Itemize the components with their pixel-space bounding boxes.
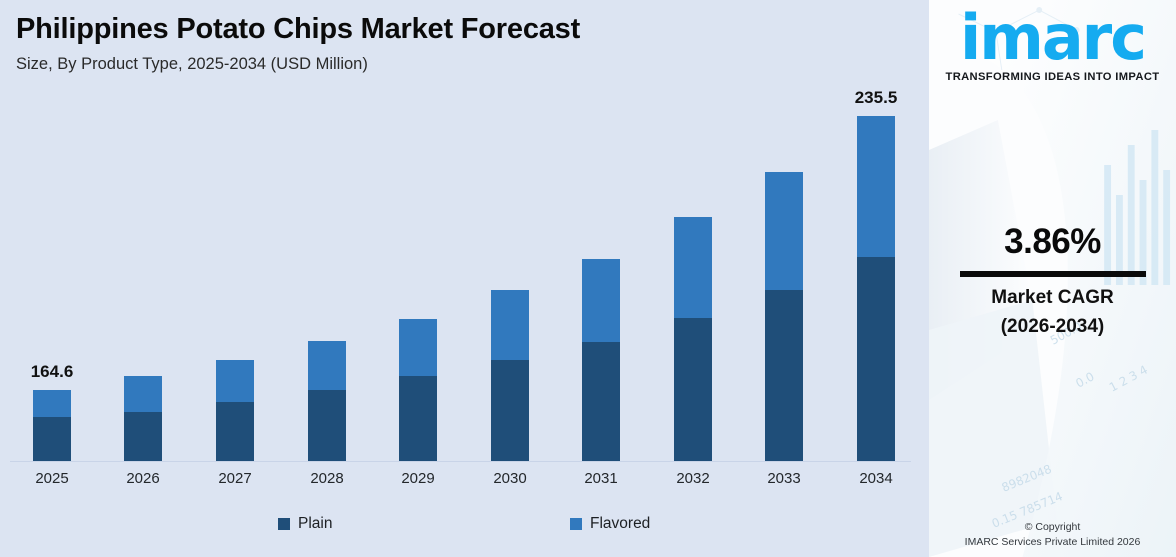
chart-header: Philippines Potato Chips Market Forecast…	[16, 14, 580, 74]
bar-value-label-2034: 235.5	[855, 88, 898, 108]
bar-2025[interactable]: 164.6	[33, 390, 71, 461]
page-title: Philippines Potato Chips Market Forecast	[16, 14, 580, 46]
bar-segment-flavored-2025[interactable]	[33, 390, 71, 417]
bar-segment-flavored-2034[interactable]	[857, 116, 895, 257]
cagr-divider	[960, 271, 1146, 277]
bar-segment-plain-2030[interactable]	[491, 360, 529, 461]
legend-label-flavored: Flavored	[590, 515, 650, 533]
legend-label-plain: Plain	[298, 515, 332, 533]
bar-segment-plain-2029[interactable]	[399, 376, 437, 461]
bar-2033[interactable]	[765, 172, 803, 461]
x-tick-2033: 2033	[765, 470, 803, 487]
bar-segment-flavored-2026[interactable]	[124, 376, 162, 412]
bar-segment-flavored-2031[interactable]	[582, 259, 620, 342]
bar-2028[interactable]	[308, 341, 346, 461]
bar-2027[interactable]	[216, 360, 254, 461]
x-axis-tick-labels: 2025202620272028202920302031203220332034	[0, 462, 925, 498]
bar-2034[interactable]: 235.5	[857, 116, 895, 461]
bar-segment-flavored-2029[interactable]	[399, 319, 437, 376]
bar-segment-plain-2027[interactable]	[216, 402, 254, 461]
legend-item-plain[interactable]: Plain	[278, 515, 332, 533]
copyright-notice: © Copyright IMARC Services Private Limit…	[929, 520, 1176, 550]
bar-segment-plain-2034[interactable]	[857, 257, 895, 461]
bar-segment-flavored-2027[interactable]	[216, 360, 254, 402]
chart-panel: Philippines Potato Chips Market Forecast…	[0, 0, 925, 557]
legend-swatch-plain	[278, 518, 290, 530]
imarc-wordmark: imarc	[960, 8, 1145, 69]
cagr-label: Market CAGR	[929, 287, 1176, 309]
chart-infographic: Philippines Potato Chips Market Forecast…	[0, 0, 1176, 557]
plot-area: 164.6235.5	[0, 110, 925, 462]
copyright-line-2: IMARC Services Private Limited 2026	[929, 535, 1176, 550]
x-tick-2030: 2030	[491, 470, 529, 487]
imarc-logo: imarc TRANSFORMING IDEAS INTO IMPACT	[929, 8, 1176, 83]
bar-segment-plain-2026[interactable]	[124, 412, 162, 461]
legend-item-flavored[interactable]: Flavored	[570, 515, 650, 533]
x-tick-2027: 2027	[216, 470, 254, 487]
bar-2030[interactable]	[491, 290, 529, 461]
bar-segment-plain-2028[interactable]	[308, 390, 346, 461]
bar-segment-flavored-2032[interactable]	[674, 217, 712, 318]
bar-segment-flavored-2033[interactable]	[765, 172, 803, 290]
bar-2026[interactable]	[124, 376, 162, 461]
x-tick-2034: 2034	[857, 470, 895, 487]
bar-2031[interactable]	[582, 259, 620, 461]
x-tick-2029: 2029	[399, 470, 437, 487]
cagr-period: (2026-2034)	[929, 316, 1176, 338]
bar-segment-plain-2031[interactable]	[582, 342, 620, 461]
x-tick-2025: 2025	[33, 470, 71, 487]
bar-2029[interactable]	[399, 319, 437, 461]
copyright-line-1: © Copyright	[929, 520, 1176, 535]
bar-segment-flavored-2030[interactable]	[491, 290, 529, 360]
bar-2032[interactable]	[674, 217, 712, 461]
bar-segment-flavored-2028[interactable]	[308, 341, 346, 390]
cagr-value: 3.86%	[929, 222, 1176, 262]
brand-panel: 500.0 0.0 1 2 3 4 8982048 0.15 785714 im…	[925, 0, 1176, 557]
bar-segment-plain-2032[interactable]	[674, 318, 712, 461]
bar-value-label-2025: 164.6	[31, 362, 74, 382]
x-tick-2028: 2028	[308, 470, 346, 487]
bar-series-container: 164.6235.5	[0, 110, 925, 462]
bar-segment-plain-2033[interactable]	[765, 290, 803, 461]
chart-legend: PlainFlavored	[0, 515, 925, 545]
bar-segment-plain-2025[interactable]	[33, 417, 71, 461]
x-tick-2031: 2031	[582, 470, 620, 487]
cagr-callout: 3.86% Market CAGR (2026-2034)	[929, 222, 1176, 338]
x-tick-2032: 2032	[674, 470, 712, 487]
legend-swatch-flavored	[570, 518, 582, 530]
chart-subtitle: Size, By Product Type, 2025-2034 (USD Mi…	[16, 55, 580, 74]
x-tick-2026: 2026	[124, 470, 162, 487]
